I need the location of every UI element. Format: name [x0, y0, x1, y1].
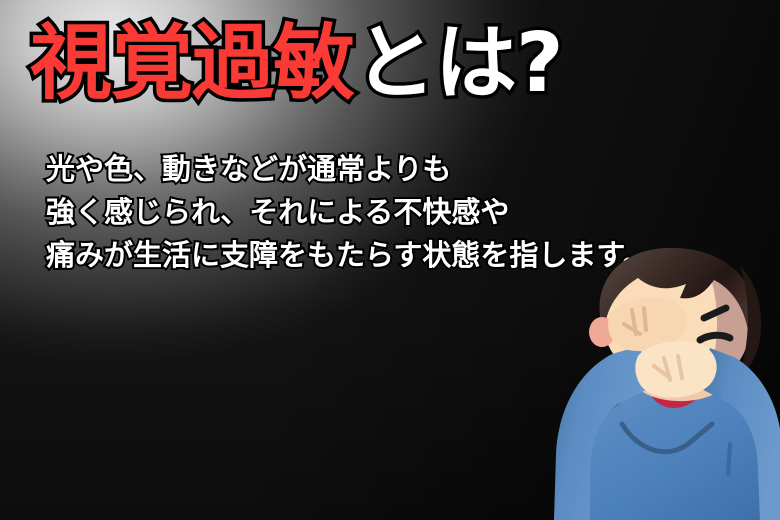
slide-canvas: 視覚過敏とは? 光や色、動きなどが通常よりも 強く感じられ、それによる不快感や …: [0, 0, 780, 520]
body-line-1: 光や色、動きなどが通常よりも: [46, 148, 652, 191]
person-covering-eyes-illustration: [554, 248, 780, 520]
title-segment-question: とは?: [354, 16, 563, 111]
title-segment-keyword: 視覚過敏: [30, 16, 354, 111]
page-title: 視覚過敏とは?: [30, 16, 563, 112]
body-line-2: 強く感じられ、それによる不快感や: [46, 191, 652, 234]
sleeve-crease: [728, 444, 730, 474]
